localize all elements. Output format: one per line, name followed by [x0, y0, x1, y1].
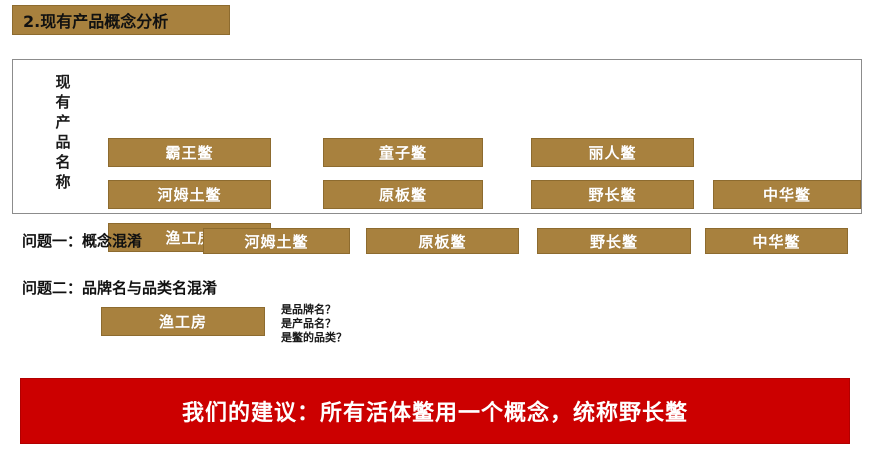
problem-one-chip[interactable]: 河姆土鳖 [203, 228, 350, 254]
problem-two-chip[interactable]: 渔工房 [101, 307, 265, 336]
vertical-label-char: 名 [51, 152, 75, 172]
product-chip[interactable]: 河姆土鳖 [108, 180, 271, 209]
problem-one-chip[interactable]: 原板鳖 [366, 228, 519, 254]
section-title-text: 2.现有产品概念分析 [23, 8, 168, 32]
problem-one-chip[interactable]: 中华鳖 [705, 228, 848, 254]
recommendation-banner: 我们的建议：所有活体鳖用一个概念，统称野长鳖 [20, 378, 850, 444]
product-chip[interactable]: 童子鳖 [323, 138, 483, 167]
product-chip[interactable]: 原板鳖 [323, 180, 483, 209]
problem-two-label: 问题二：品牌名与品类名混淆 [22, 277, 217, 298]
question-item: 是鳖的品类？ [281, 331, 347, 345]
problem-one-label: 问题一：概念混淆 [22, 230, 142, 251]
vertical-label-char: 产 [51, 112, 75, 132]
product-chip[interactable]: 中华鳖 [713, 180, 861, 209]
product-chip[interactable]: 霸王鳖 [108, 138, 271, 167]
recommendation-text: 我们的建议：所有活体鳖用一个概念，统称野长鳖 [182, 395, 688, 427]
question-item: 是品牌名？ [281, 303, 347, 317]
question-item: 是产品名？ [281, 317, 347, 331]
vertical-axis-label: 现 有 产 品 名 称 [51, 72, 75, 192]
vertical-label-char: 现 [51, 72, 75, 92]
problem-one-chip[interactable]: 野长鳖 [537, 228, 691, 254]
section-title-tab: 2.现有产品概念分析 [12, 5, 230, 35]
vertical-label-char: 称 [51, 172, 75, 192]
vertical-label-char: 品 [51, 132, 75, 152]
existing-product-panel: 现 有 产 品 名 称 霸王鳖 童子鳖 丽人鳖 河姆土鳖 原板鳖 野长鳖 中华鳖… [12, 59, 862, 214]
product-chip[interactable]: 丽人鳖 [531, 138, 694, 167]
vertical-label-char: 有 [51, 92, 75, 112]
product-chip[interactable]: 野长鳖 [531, 180, 694, 209]
problem-two-question-list: 是品牌名？ 是产品名？ 是鳖的品类？ [281, 303, 347, 345]
